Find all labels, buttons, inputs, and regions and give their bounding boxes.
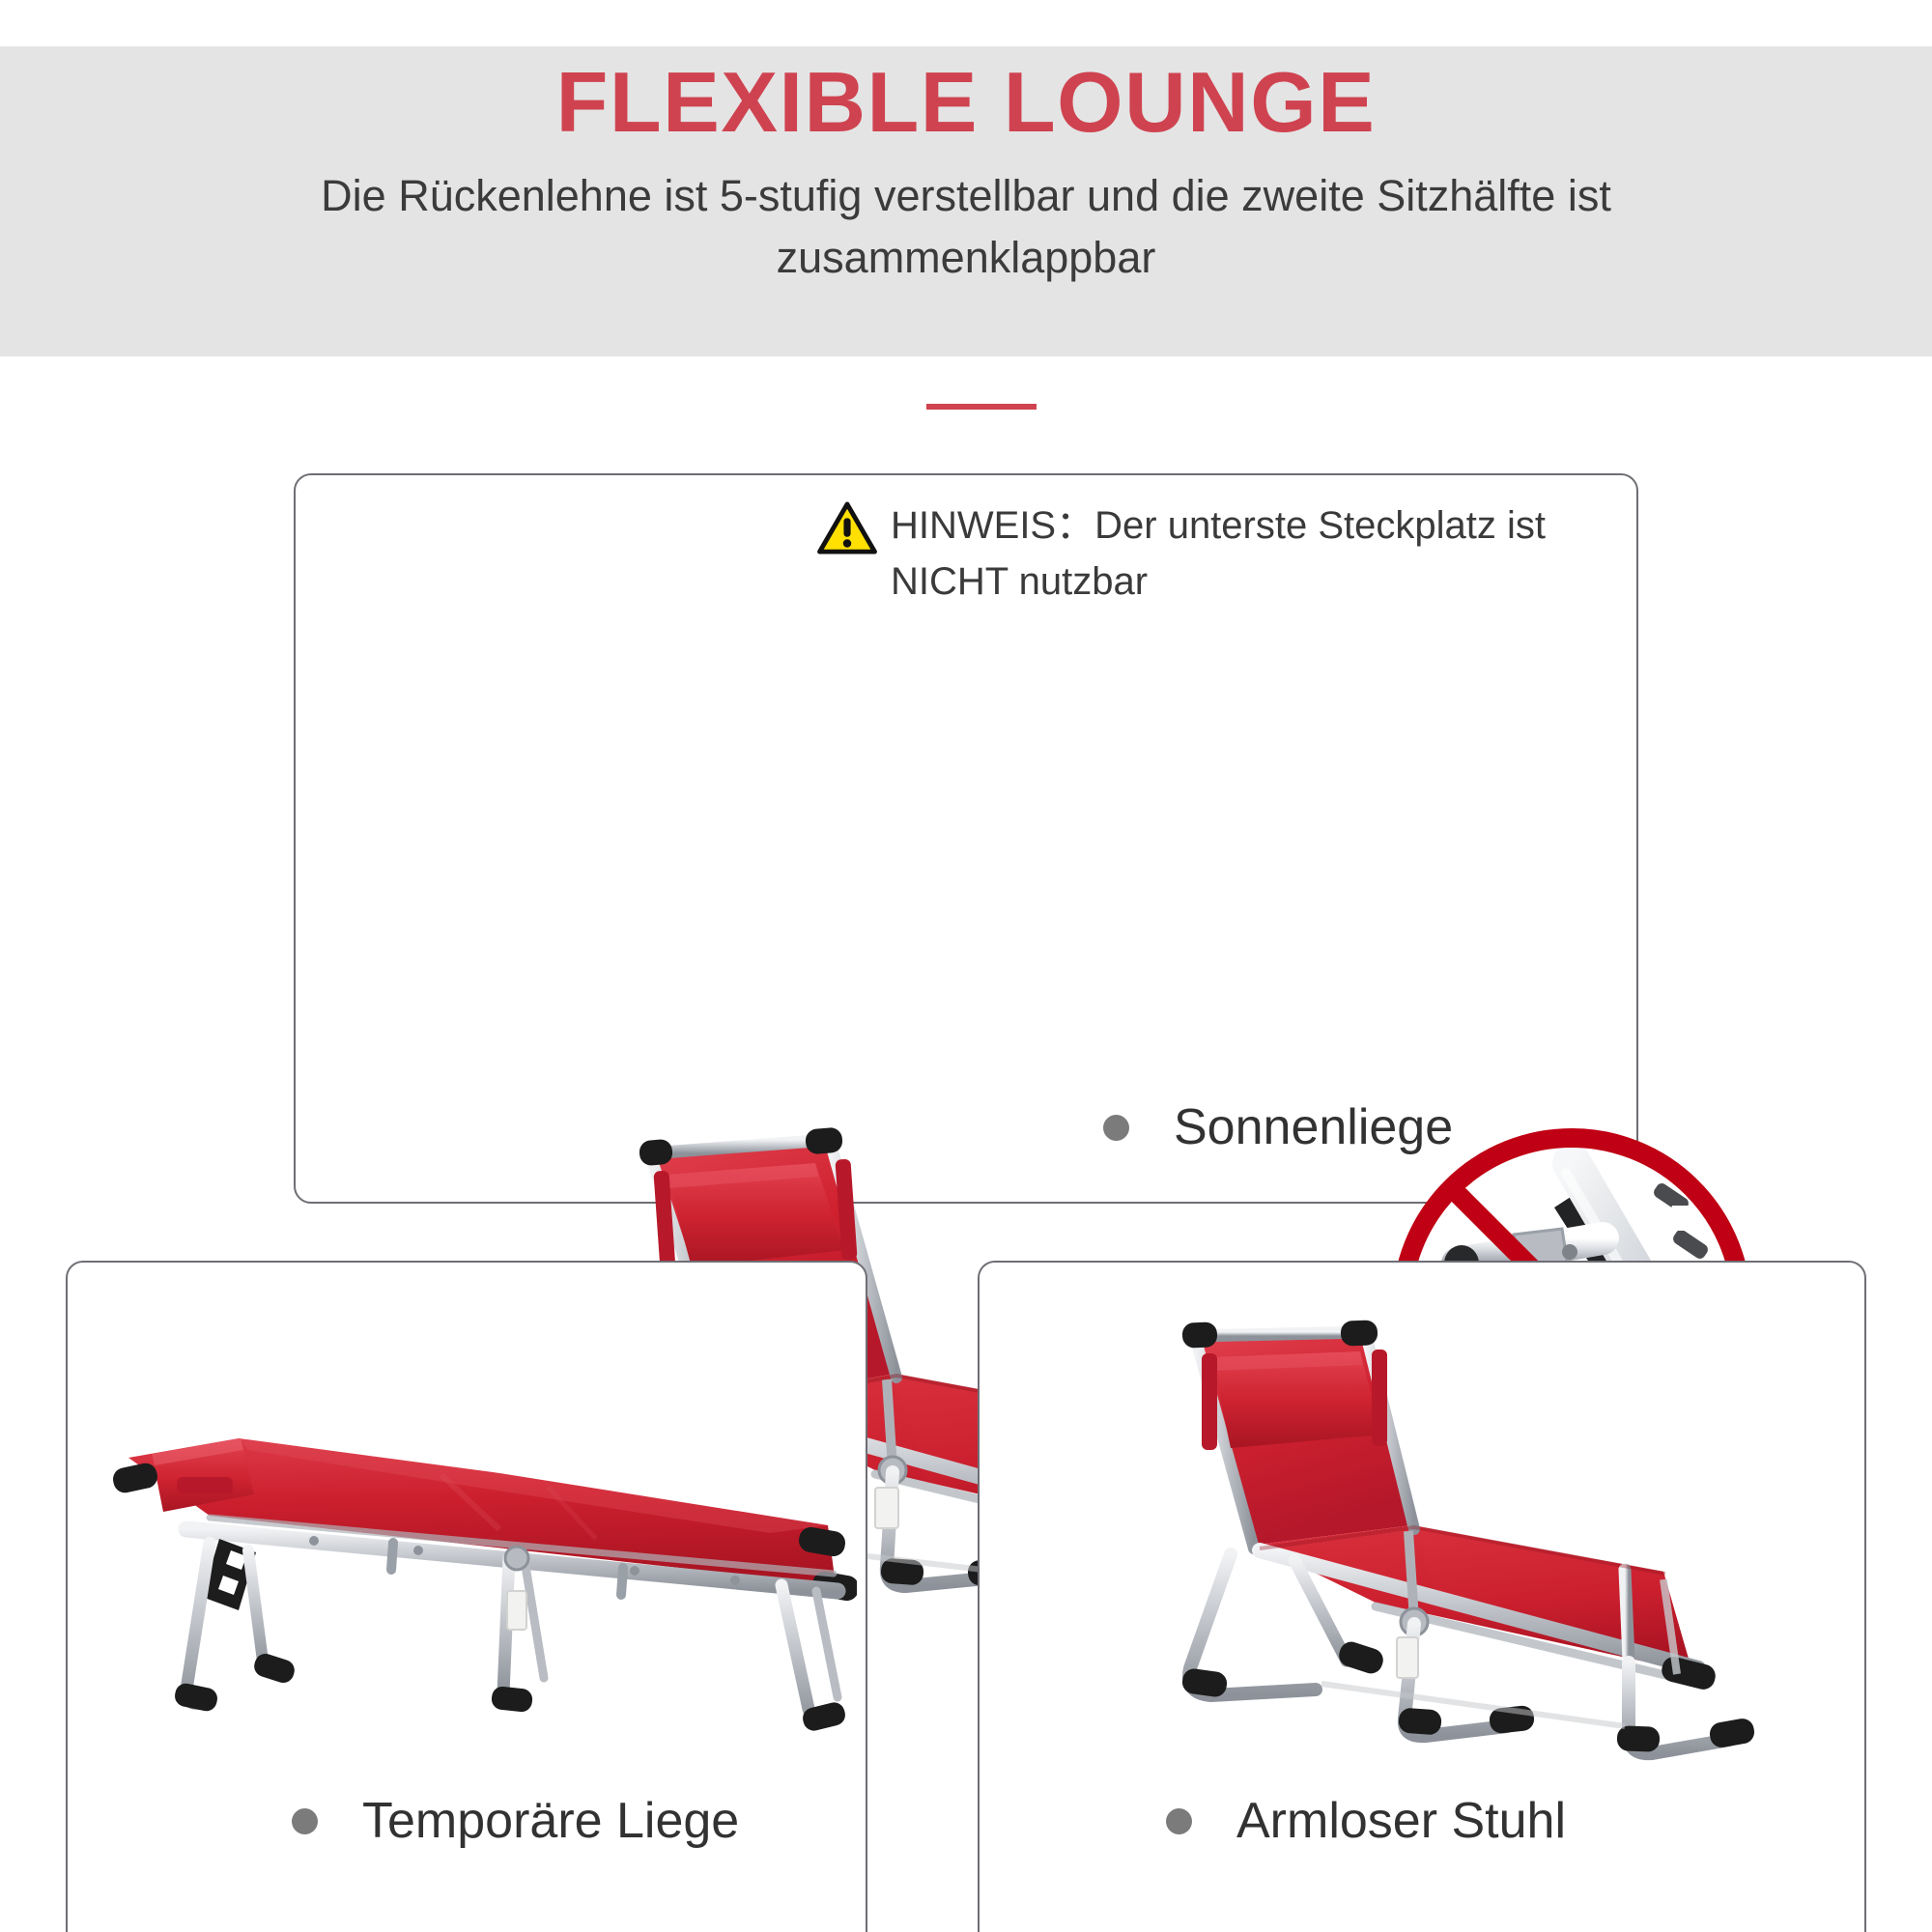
product-photo-armloser-stuhl bbox=[1122, 1301, 1799, 1775]
note-label: HINWEIS： bbox=[891, 504, 1094, 547]
lounger-upright-illustration bbox=[1122, 1301, 1799, 1775]
caption-label: Armloser Stuhl bbox=[1236, 1792, 1566, 1850]
caption-sonnenliege: Sonnenliege bbox=[1103, 1098, 1453, 1156]
card-temporaere-liege: Temporäre Liege bbox=[66, 1261, 867, 1932]
lounger-flat-illustration bbox=[94, 1350, 857, 1765]
page-title: FLEXIBLE LOUNGE bbox=[556, 56, 1377, 148]
warning-triangle-icon bbox=[817, 501, 877, 555]
page-subtitle: Die Rückenlehne ist 5-stufig verstellbar… bbox=[241, 165, 1690, 289]
note-row: HINWEIS：Der unterste Steckplatz ist NICH… bbox=[817, 497, 1609, 610]
caption-temporaere-liege: Temporäre Liege bbox=[292, 1792, 739, 1850]
bullet-dot-icon bbox=[1166, 1808, 1192, 1834]
card-armloser-stuhl: Armloser Stuhl bbox=[978, 1261, 1866, 1932]
product-photo-temporaere-liege bbox=[94, 1350, 857, 1765]
card-sonnenliege: HINWEIS：Der unterste Steckplatz ist NICH… bbox=[294, 473, 1638, 1204]
section-divider bbox=[926, 404, 1037, 410]
caption-armloser-stuhl: Armloser Stuhl bbox=[1166, 1792, 1566, 1850]
caption-label: Sonnenliege bbox=[1174, 1098, 1453, 1156]
caption-label: Temporäre Liege bbox=[362, 1792, 739, 1850]
header-band: FLEXIBLE LOUNGE Die Rückenlehne ist 5-st… bbox=[0, 46, 1932, 356]
note-text: HINWEIS：Der unterste Steckplatz ist NICH… bbox=[891, 497, 1609, 610]
bullet-dot-icon bbox=[1103, 1115, 1129, 1141]
infographic-page: FLEXIBLE LOUNGE Die Rückenlehne ist 5-st… bbox=[0, 0, 1932, 1932]
bullet-dot-icon bbox=[292, 1808, 318, 1834]
headrest-pillow bbox=[1202, 1350, 1387, 1450]
